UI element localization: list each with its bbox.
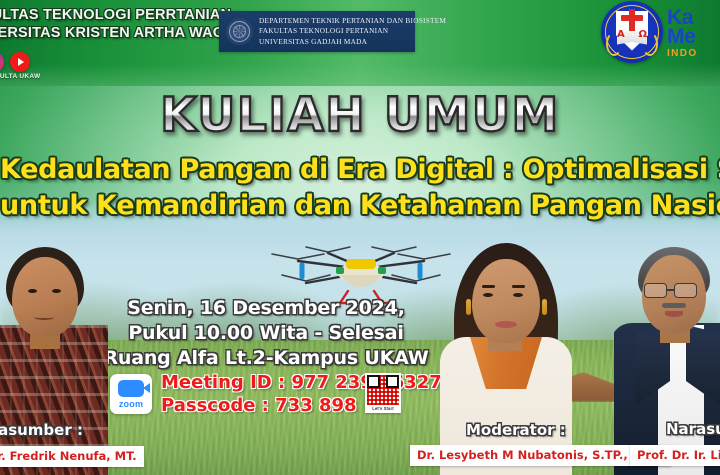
role-label-left: Narasumber :	[0, 421, 83, 439]
ugm-line-1: DEPARTEMEN TEKNIK PERTANIAN DAN BIOSISTE…	[259, 16, 446, 27]
event-date: Senin, 16 Desember 2024,	[92, 296, 440, 321]
speaker-photo-left	[0, 243, 108, 475]
kampus-merdeka-wordmark: Ka Me INDO	[667, 0, 698, 63]
ugm-line-3: UNIVERSITAS GADJAH MADA	[259, 37, 446, 48]
event-details: Senin, 16 Desember 2024, Pukul 10.00 Wit…	[92, 296, 440, 371]
km-word-3: INDO	[667, 44, 698, 63]
qr-code-icon	[367, 375, 399, 405]
speaker-name-right: Prof. Dr. Ir. Lilik Sutiarso, M.Eng.	[630, 445, 720, 466]
instagram-icon[interactable]	[0, 52, 4, 72]
qr-caption: Let's Start	[372, 406, 393, 411]
zoom-logo-icon[interactable]: zoom	[110, 374, 152, 414]
speaker-photo-right	[614, 239, 720, 475]
speaker-name-left: Dr. Ir. Fredrik Nenufa, MT.	[0, 446, 144, 467]
ukaw-seal-icon: A Ω	[601, 1, 663, 63]
subtitle-line-2: untuk Kemandirian dan Ketahanan Pangan N…	[0, 188, 720, 224]
ugm-text-block: DEPARTEMEN TEKNIK PERTANIAN DAN BIOSISTE…	[259, 16, 446, 48]
zoom-camera-icon	[118, 380, 144, 397]
role-label-moderator: Moderator :	[466, 421, 566, 439]
zoom-wordmark: zoom	[119, 399, 143, 409]
social-handle: FAKULTA UKAW	[0, 73, 40, 80]
page-title: KULIAH UMUM	[0, 88, 720, 143]
role-label-right: Narasumber :	[666, 420, 720, 438]
ugm-line-2: FAKULTAS TEKNOLOGI PERTANIAN	[259, 26, 446, 37]
event-time: Pukul 10.00 Wita - Selesai	[92, 321, 440, 346]
social-links[interactable]	[0, 52, 30, 72]
ugm-logo-icon	[226, 18, 253, 45]
ugm-banner: DEPARTEMEN TEKNIK PERTANIAN DAN BIOSISTE…	[219, 11, 415, 52]
subtitle-line-1: Kedaulatan Pangan di Era Digital : Optim…	[0, 152, 720, 188]
qr-code[interactable]: Let's Start	[365, 373, 401, 413]
event-venue: Ruang Alfa Lt.2-Kampus UKAW	[92, 346, 440, 371]
kampus-merdeka-logo: A Ω Ka Me INDO	[601, 0, 698, 63]
event-poster: FAKULTAS TEKNOLOGI PERRTANIAN UNIVERSITA…	[0, 0, 720, 475]
subtitle-block: Kedaulatan Pangan di Era Digital : Optim…	[0, 152, 720, 224]
youtube-icon[interactable]	[10, 52, 30, 72]
